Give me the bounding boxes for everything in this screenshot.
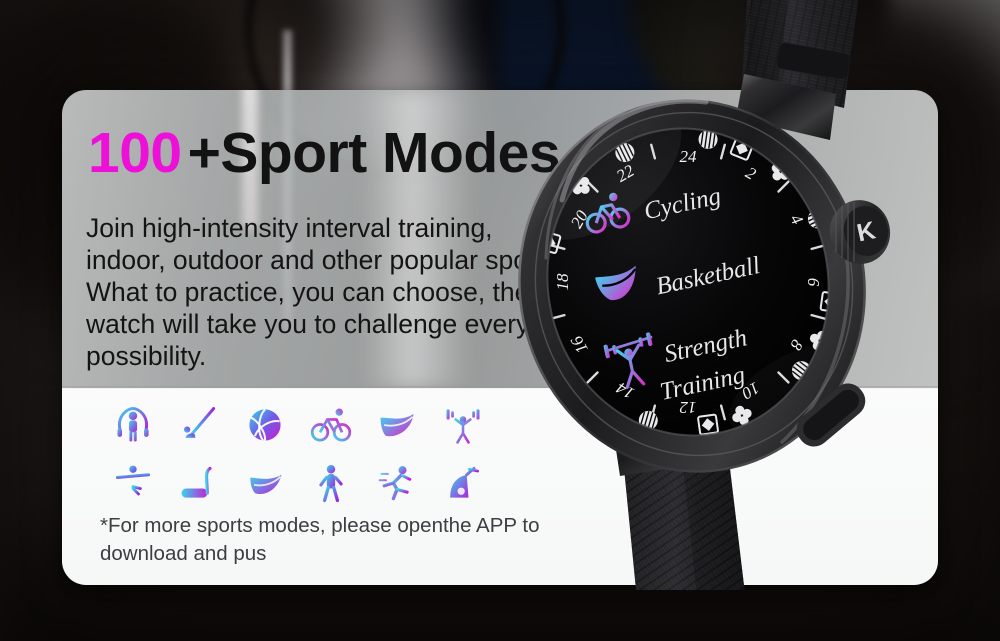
svg-text:18: 18 [553,273,572,291]
golf-icon [177,403,221,447]
smartwatch-product-image: K [492,0,912,590]
headline-number: 100 [88,121,182,185]
sport-icon-grid [100,398,530,510]
weightlifting-icon [441,403,485,447]
running-icon [375,461,419,505]
free-swim-icon [243,461,287,505]
cycling-icon [309,403,353,447]
yoga-icon [111,461,155,505]
jump-rope-icon [111,403,155,447]
page-title: 100+Sport Modes [88,125,560,182]
smartwatch-svg: K [492,0,912,590]
exercise-bike-icon [441,461,485,505]
svg-text:6: 6 [804,278,823,287]
treadmill-icon [177,461,221,505]
swimming-wave-icon [375,403,419,447]
svg-text:24: 24 [680,147,698,166]
volleyball-icon [243,403,287,447]
watch-strap-bottom [624,452,746,590]
walking-icon [309,461,353,505]
